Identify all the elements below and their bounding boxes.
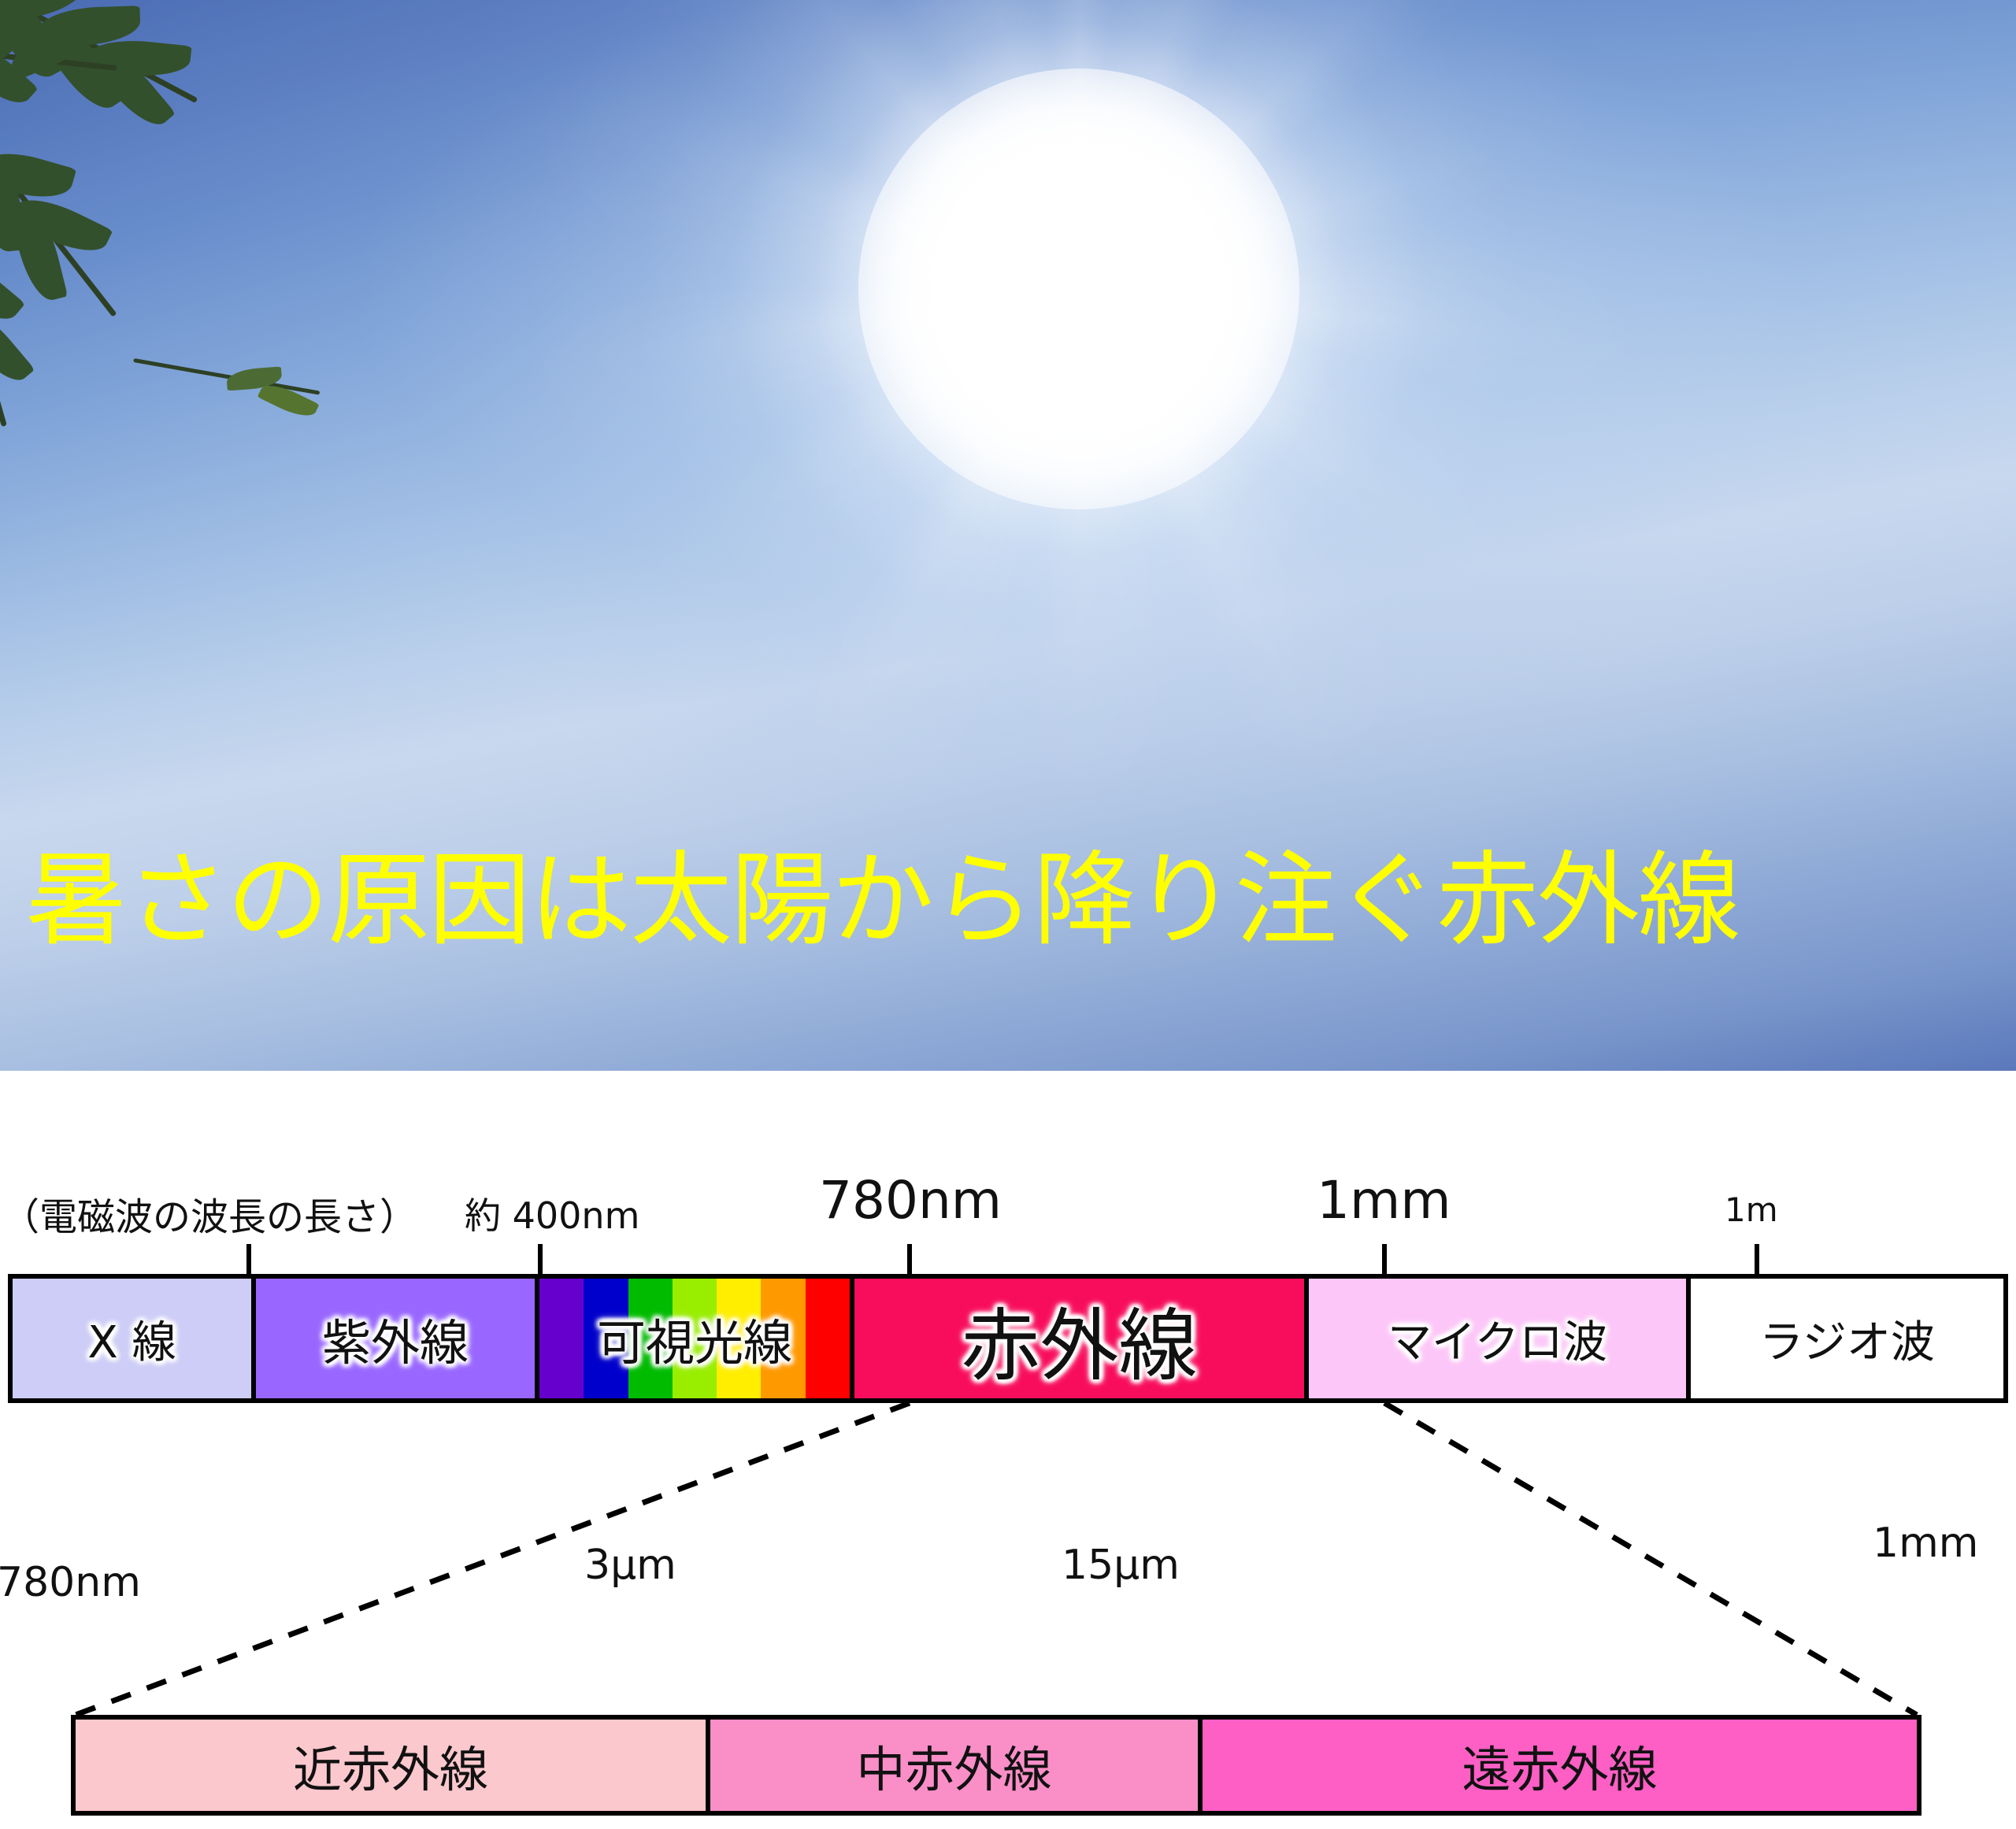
band-microwave[interactable]: マイクロ波: [1304, 1279, 1686, 1398]
infrared-detail-bar: 近赤外線 中赤外線 遠赤外線: [71, 1715, 1921, 1816]
band-label-radiowave: ラジオ波: [1759, 1307, 1935, 1371]
band-label-ultraviolet: 紫外線: [322, 1303, 469, 1374]
band-x-ray[interactable]: X 線: [13, 1279, 251, 1398]
band-label-infrared: 赤外線: [962, 1282, 1198, 1396]
band-label-microwave: マイクロ波: [1388, 1307, 1607, 1371]
detail-tick-label-780nm: 780nm: [0, 1559, 141, 1606]
band-infrared[interactable]: 赤外線: [850, 1279, 1304, 1398]
detail-tick-label-15um: 15µm: [1062, 1542, 1180, 1589]
connector-left: [76, 1403, 910, 1715]
ir-band-middle-infrared[interactable]: 中赤外線: [706, 1720, 1198, 1811]
page-title: 暑さの原因は太陽から降り注ぐ赤外線: [25, 849, 1739, 951]
connector-right: [1384, 1403, 1917, 1715]
band-label-visible-light: 可視光線: [597, 1303, 792, 1374]
band-radiowave[interactable]: ラジオ波: [1686, 1279, 2003, 1398]
ir-band-label-far-infrared: 遠赤外線: [1462, 1730, 1657, 1801]
tick-label-780nm: 780nm: [819, 1170, 1002, 1231]
visible-strip-0: [539, 1279, 584, 1398]
electromagnetic-spectrum-bar: X 線 紫外線 可視光線 赤外線 マイクロ波 ラジオ波: [8, 1274, 2008, 1403]
spectrum-caption: （電磁波の波長の長さ）: [2, 1186, 417, 1241]
band-ultraviolet[interactable]: 紫外線: [251, 1279, 535, 1398]
tick-label-400nm: 約 400nm: [465, 1187, 639, 1239]
band-visible-light[interactable]: 可視光線: [535, 1279, 850, 1398]
detail-tick-label-3um: 3µm: [584, 1542, 676, 1589]
band-label-x-ray: X 線: [87, 1307, 176, 1371]
sun-rays: [409, 0, 1748, 958]
ir-band-near-infrared[interactable]: 近赤外線: [76, 1720, 706, 1811]
sun-icon: [858, 68, 1299, 509]
hero-photo: 暑さの原因は太陽から降り注ぐ赤外線: [0, 0, 2016, 1071]
ir-band-far-infrared[interactable]: 遠赤外線: [1198, 1720, 1917, 1811]
ir-band-label-near-infrared: 近赤外線: [293, 1730, 488, 1801]
visible-strip-6: [806, 1279, 850, 1398]
spectrum-diagram: （電磁波の波長の長さ） 約 400nm 780nm 1mm 1m X 線 紫外線…: [0, 1071, 2016, 1829]
detail-tick-label-1mm: 1mm: [1873, 1520, 1978, 1567]
tick-label-1m: 1m: [1725, 1190, 1778, 1229]
tick-label-1mm: 1mm: [1317, 1170, 1451, 1231]
ir-band-label-middle-infrared: 中赤外線: [856, 1730, 1051, 1801]
